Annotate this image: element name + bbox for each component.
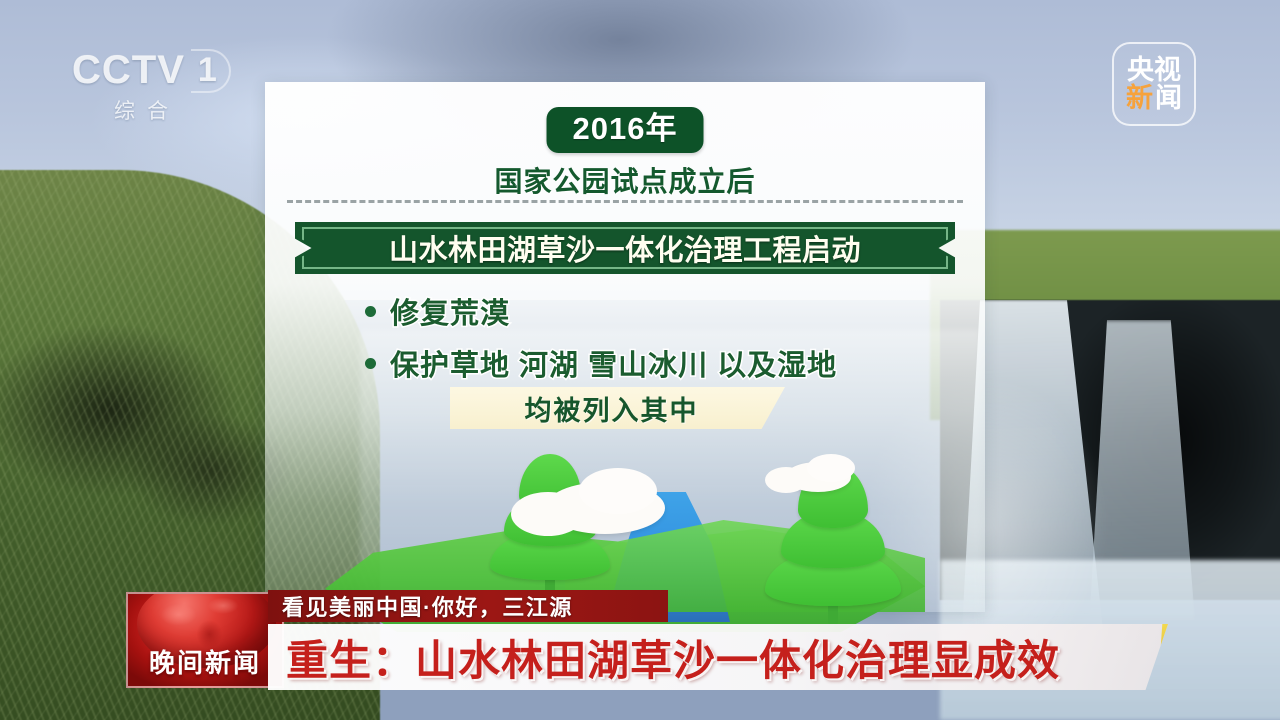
- watermark-yangshi: 央视: [1127, 57, 1181, 84]
- kicker-text: 看见美丽中国·你好，三江源: [282, 590, 573, 622]
- list-item: 保护草地 河湖 雪山冰川 以及湿地: [365, 342, 925, 384]
- broadcast-frame: CCTV 1 综合 央视 新 闻 2016年 国家公园试点成立后 山水林田湖草沙…: [0, 0, 1280, 720]
- cloud-icon: [545, 482, 665, 534]
- cloud-icon: [785, 462, 851, 492]
- channel-subtitle: 综合: [72, 95, 222, 125]
- year-badge: 2016年: [547, 107, 704, 153]
- watermark-row-bottom: 新 闻: [1126, 85, 1182, 112]
- dashed-divider: [287, 200, 963, 203]
- watermark-row-top: 央视: [1127, 57, 1181, 84]
- kicker-bar: 看见美丽中国·你好，三江源: [268, 590, 668, 622]
- bullet-list: 修复荒漠 保护草地 河湖 雪山冰川 以及湿地: [365, 290, 925, 394]
- program-logo-label: 晚间新闻: [128, 643, 282, 680]
- watermark-wen: 闻: [1155, 85, 1182, 112]
- cctv-news-watermark: 央视 新 闻: [1112, 42, 1196, 126]
- headline-text: 重生：山水林田湖草沙一体化治理显成效: [286, 627, 1060, 688]
- ribbon-label: 山水林田湖草沙一体化治理工程启动: [389, 227, 861, 269]
- headline-edge-accent: [1158, 624, 1171, 690]
- bullet-dot-icon: [365, 306, 376, 317]
- channel-number: 1: [191, 49, 231, 93]
- bullet-dot-icon: [365, 358, 376, 369]
- headline-bar: 重生：山水林田湖草沙一体化治理显成效: [268, 624, 1168, 690]
- cctv-wordmark: CCTV 1: [72, 48, 252, 93]
- lower-third: 晚间新闻 看见美丽中国·你好，三江源 重生：山水林田湖草沙一体化治理显成效: [0, 580, 1280, 720]
- cctv-letters: CCTV: [72, 48, 185, 93]
- program-logo: 晚间新闻: [126, 592, 284, 688]
- bullet-text: 修复荒漠: [390, 290, 510, 332]
- watermark-xin: 新: [1126, 85, 1153, 112]
- bullet-text: 保护草地 河湖 雪山冰川 以及湿地: [390, 342, 837, 384]
- list-item: 修复荒漠: [365, 290, 925, 332]
- card-subheading: 国家公园试点成立后: [265, 160, 985, 200]
- infographic-card: 2016年 国家公园试点成立后 山水林田湖草沙一体化治理工程启动 修复荒漠 保护…: [265, 82, 985, 612]
- cctv-channel-logo: CCTV 1 综合: [72, 48, 252, 130]
- project-ribbon: 山水林田湖草沙一体化治理工程启动: [295, 222, 955, 274]
